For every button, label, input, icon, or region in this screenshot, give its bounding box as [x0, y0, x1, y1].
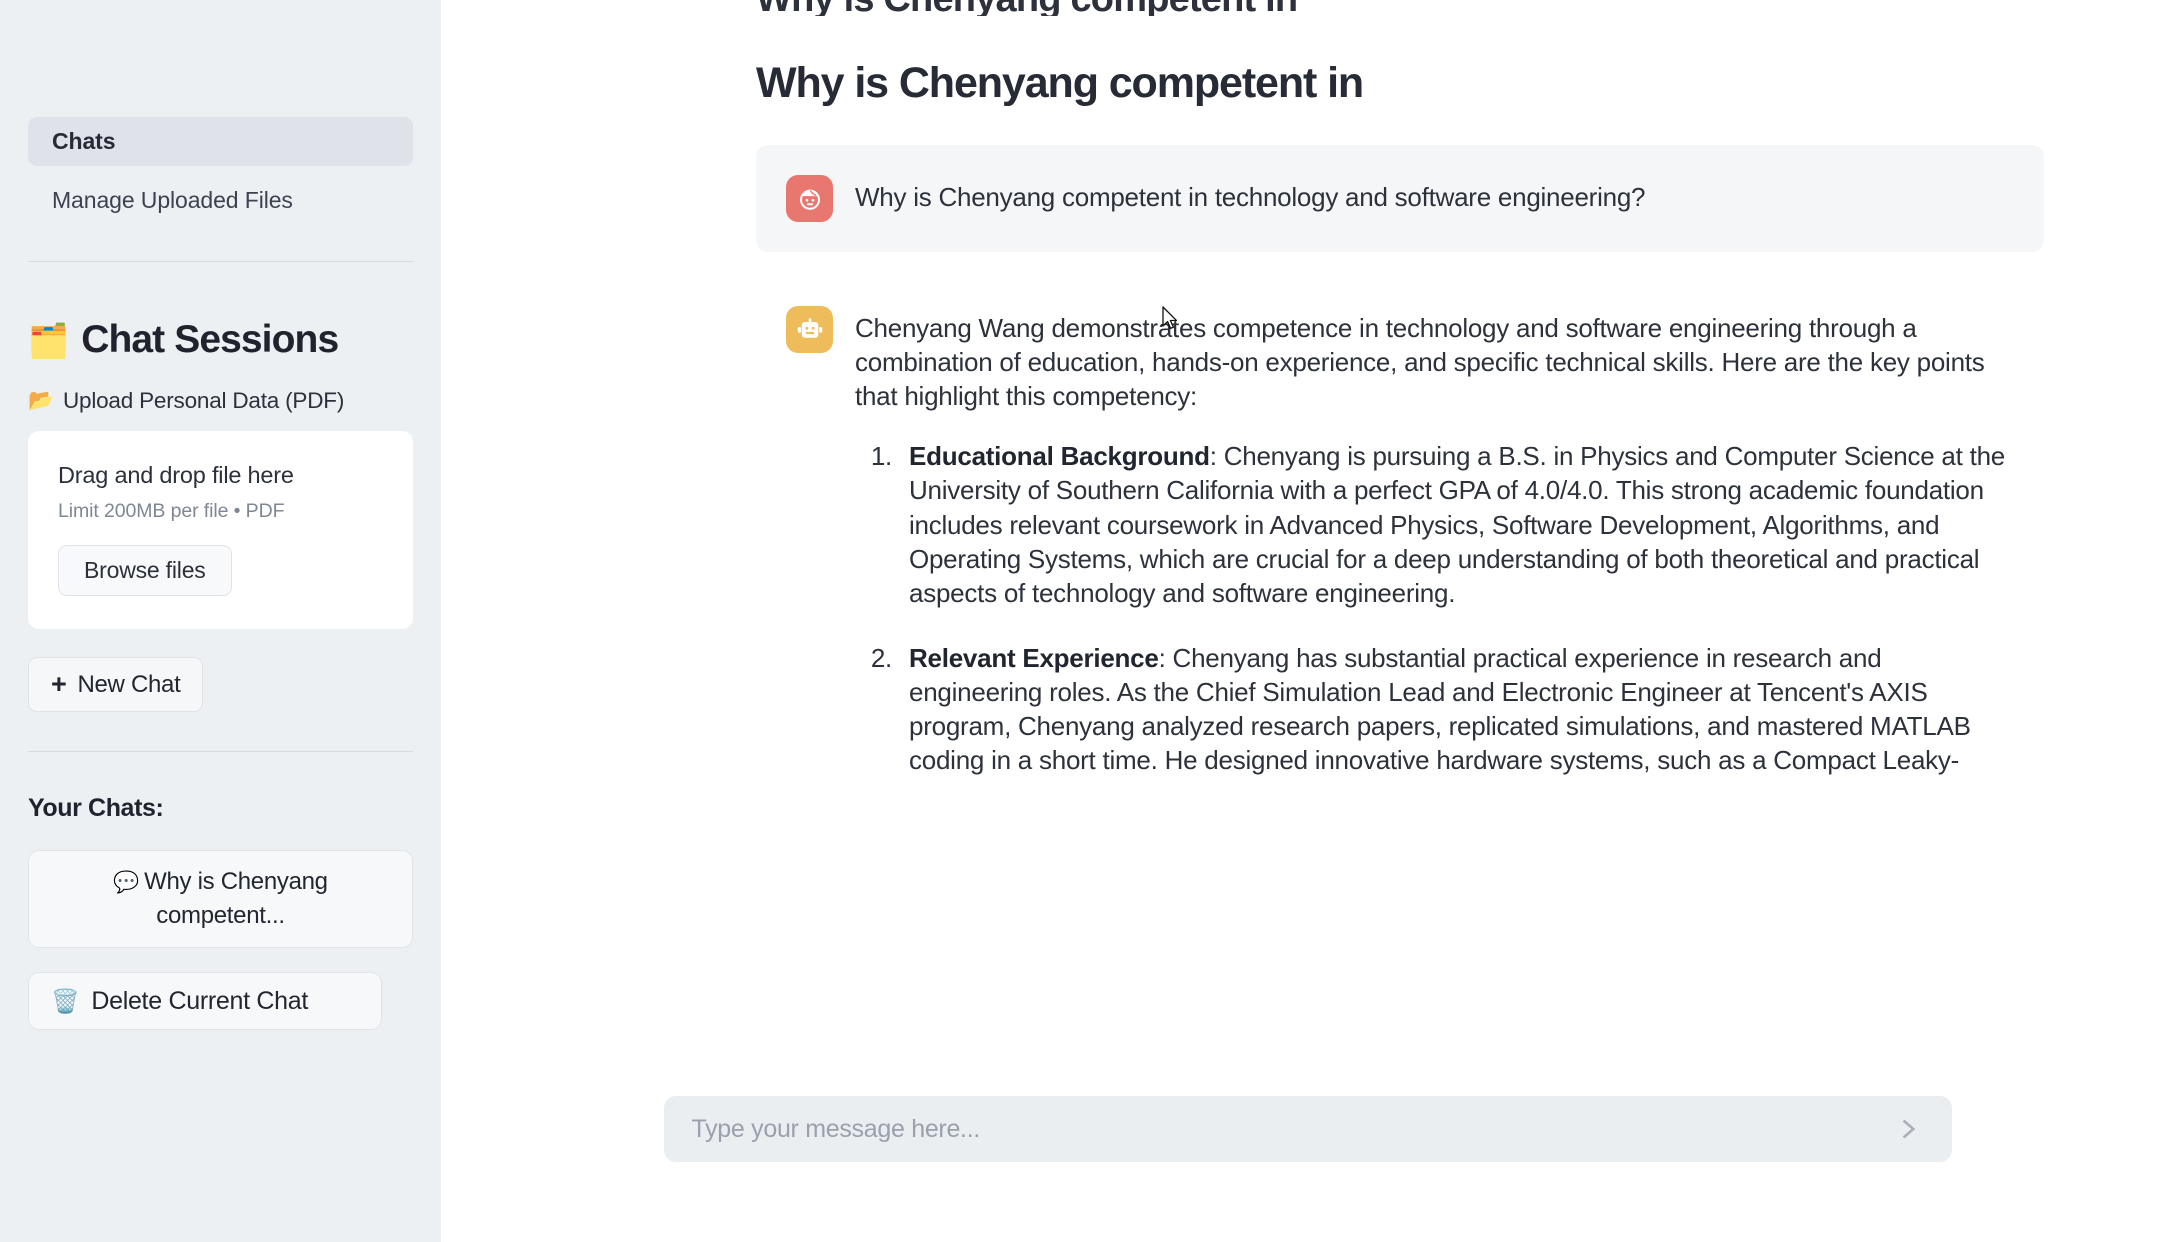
browse-files-button[interactable]: Browse files	[58, 545, 232, 596]
main-panel: Why is Chenyang competent in Why is Chen…	[441, 0, 2174, 1242]
user-message: Why is Chenyang competent in technology …	[756, 145, 2044, 252]
dropzone-limit-text: Limit 200MB per file • PDF	[58, 500, 383, 523]
chat-sessions-heading-label: Chat Sessions	[81, 318, 338, 362]
trash-can-icon: 🗑️	[51, 988, 79, 1015]
composer-dock	[441, 1062, 2174, 1242]
app-root: Chats Manage Uploaded Files 🗂️ Chat Sess…	[0, 0, 2174, 1242]
robot-icon	[786, 306, 833, 353]
page-title: Why is Chenyang competent in	[756, 60, 2044, 107]
list-item: Educational Background: Chenyang is purs…	[899, 439, 2014, 609]
your-chats-heading: Your Chats:	[28, 794, 413, 823]
card-index-dividers-icon: 🗂️	[28, 324, 68, 357]
dropzone-title: Drag and drop file here	[58, 462, 383, 489]
chat-column: Why is Chenyang competent in Why is Chen…	[756, 0, 2044, 807]
message-input[interactable]	[692, 1115, 1888, 1144]
list-item-term: Educational Background	[909, 441, 1210, 471]
new-chat-button[interactable]: + New Chat	[28, 657, 203, 712]
chat-session-item-label: 💬Why is Chenyang competent...	[55, 865, 386, 933]
plus-icon: +	[51, 671, 66, 698]
sidebar-nav-chats[interactable]: Chats	[28, 117, 413, 166]
delete-current-chat-button[interactable]: 🗑️ Delete Current Chat	[28, 972, 382, 1030]
sidebar: Chats Manage Uploaded Files 🗂️ Chat Sess…	[0, 0, 441, 1242]
list-item: Relevant Experience: Chenyang has substa…	[899, 641, 2014, 777]
list-item-term: Relevant Experience	[909, 643, 1159, 673]
send-arrow-icon	[1894, 1114, 1924, 1144]
new-chat-button-label: New Chat	[77, 671, 180, 699]
chat-session-item-text: Why is Chenyang competent...	[144, 868, 328, 929]
chat-scroll-area[interactable]: Why is Chenyang competent in Why is Chen…	[441, 0, 2174, 1062]
user-message-text: Why is Chenyang competent in technology …	[855, 180, 2014, 214]
user-face-icon	[786, 175, 833, 222]
assistant-message-body: Chenyang Wang demonstrates competence in…	[855, 306, 2014, 777]
chat-session-item[interactable]: 💬Why is Chenyang competent...	[28, 850, 413, 948]
sidebar-nav-manage-files-label: Manage Uploaded Files	[52, 187, 293, 214]
upload-personal-data-text: Upload Personal Data (PDF)	[63, 388, 344, 414]
composer	[664, 1096, 1952, 1162]
sidebar-divider-top	[28, 261, 413, 262]
open-folder-icon: 📂	[28, 389, 54, 413]
file-dropzone[interactable]: Drag and drop file here Limit 200MB per …	[28, 431, 413, 629]
upload-personal-data-label: 📂 Upload Personal Data (PDF)	[28, 388, 413, 414]
sidebar-nav-manage-files[interactable]: Manage Uploaded Files	[28, 178, 413, 222]
user-message-body: Why is Chenyang competent in technology …	[855, 175, 2014, 214]
send-button[interactable]	[1888, 1108, 1930, 1150]
sidebar-nav-chats-label: Chats	[52, 128, 115, 155]
assistant-message: Chenyang Wang demonstrates competence in…	[756, 276, 2044, 807]
delete-current-chat-label: Delete Current Chat	[91, 987, 308, 1016]
assistant-intro-paragraph: Chenyang Wang demonstrates competence in…	[855, 311, 2014, 413]
chat-sessions-heading: 🗂️ Chat Sessions	[28, 318, 413, 362]
assistant-key-points-list: Educational Background: Chenyang is purs…	[855, 439, 2014, 776]
speech-balloon-icon: 💬	[113, 871, 139, 894]
scrolled-title-clipped: Why is Chenyang competent in	[756, 0, 2044, 16]
sidebar-divider-bottom	[28, 751, 413, 752]
